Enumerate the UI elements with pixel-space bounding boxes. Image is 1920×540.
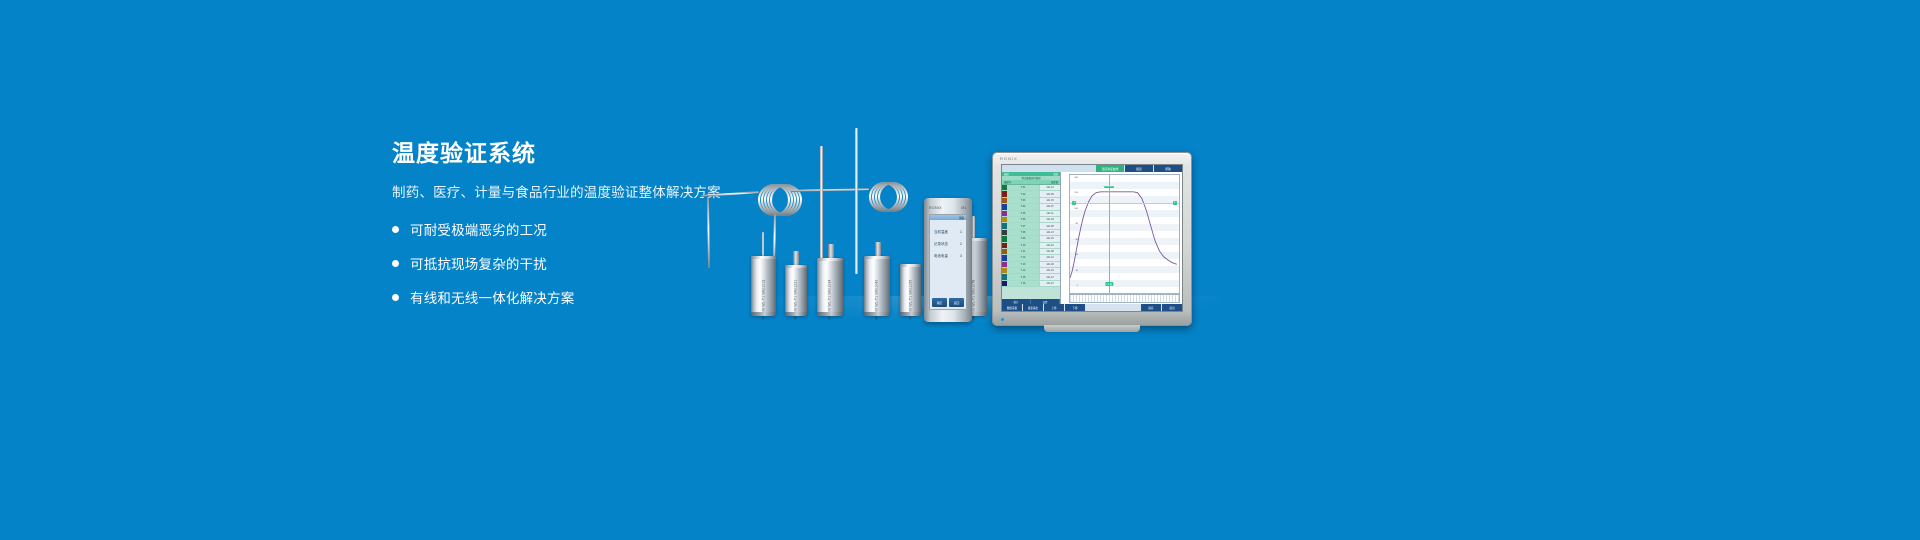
chart-setpoint-line — [1070, 203, 1179, 204]
chart-plot-area[interactable]: 140120100806040200 121.0°C F0 值 A B — [1069, 174, 1180, 294]
bullet-dot-icon — [392, 260, 399, 267]
chart-marker-a[interactable]: A — [1072, 201, 1076, 205]
needle-probe-tallest — [855, 128, 858, 274]
feature-label: 可抵抗现场复杂的干扰 — [410, 253, 547, 273]
channel-name-cell: T 04 — [1007, 204, 1039, 209]
channel-value-cell: 121.11 — [1039, 211, 1060, 216]
logger-label-5: RONIX WL-T1 SN01055 — [908, 280, 913, 320]
logger-stem — [762, 232, 764, 256]
channel-name-cell: T 10 — [1007, 243, 1039, 248]
channel-name-cell: T 08 — [1007, 230, 1039, 235]
channel-name-cell: T 07 — [1007, 223, 1039, 228]
channel-value-cell: 121.07 — [1039, 204, 1060, 209]
bullet-dot-icon — [392, 226, 399, 233]
monitor-display: RONIX 温度验证曲线 报表 帮助 通道 温度 — [992, 152, 1192, 326]
tab-help[interactable]: 帮助 — [1154, 165, 1182, 172]
channel-value-cell: 121.16 — [1039, 236, 1060, 241]
channel-value-cell: 121.13 — [1039, 230, 1060, 235]
channel-value-cell: 121.06 — [1039, 262, 1060, 267]
monitor-brand: RONIX — [1000, 156, 1018, 161]
channel-value-cell: 121.07 — [1039, 281, 1060, 286]
channel-name-cell: T 05 — [1007, 211, 1039, 216]
logger-stem — [972, 216, 975, 238]
exit-button[interactable]: 退出 — [1162, 304, 1182, 311]
channel-name-cell: T 01 — [1007, 185, 1039, 190]
logger-label-4: RONIX WL-T1 SN01042 — [875, 280, 880, 320]
channel-value-cell: 121.08 — [1039, 249, 1060, 254]
tab-report[interactable]: 报表 — [1125, 165, 1153, 172]
readout-value: 3 — [960, 254, 962, 258]
monitor-screen: 温度验证曲线 报表 帮助 通道 温度 测点数据实时监视 通道号 — [1001, 164, 1183, 312]
software-bottom-toolbar: 数据采集 报表输出 上移 下移 保存 退出 — [1002, 304, 1182, 311]
save-button[interactable]: 保存 — [1141, 304, 1161, 311]
handheld-brand-row: RONIX M1 — [924, 206, 972, 210]
channel-name-cell: T 12 — [1007, 255, 1039, 260]
feature-label: 有线和无线一体化解决方案 — [410, 287, 574, 307]
chart-horizontal-scrollbar[interactable] — [1069, 294, 1180, 303]
channel-value-cell: 121.18 — [1039, 217, 1060, 222]
channel-value-cell: 121.14 — [1039, 255, 1060, 260]
data-logger-2: RONIX WL-T1 SN01021 — [785, 265, 807, 316]
channel-name-cell: T 02 — [1007, 191, 1039, 196]
readout-label: 电池电量 — [934, 253, 948, 258]
chart-cursor-bottom-label: F0 值 — [1106, 282, 1113, 286]
chart-marker-b[interactable]: B — [1173, 201, 1177, 205]
readout-value: 2 — [960, 242, 962, 246]
channel-value-cell: 121.10 — [1039, 243, 1060, 248]
handheld-button-bar: 确定 返回 — [930, 298, 966, 309]
channel-name-cell: T 16 — [1007, 281, 1039, 286]
channel-value-cell: 121.09 — [1039, 191, 1060, 196]
channel-name-cell: T 15 — [1007, 274, 1039, 279]
channel-value-cell: 121.15 — [1039, 198, 1060, 203]
logger-cap — [828, 244, 834, 258]
move-up-button[interactable]: 上移 — [1044, 304, 1064, 311]
feature-label: 可耐受极端恶劣的工况 — [410, 219, 547, 239]
channel-name-cell: T 09 — [1007, 236, 1039, 241]
table-row[interactable]: T 16121.07 — [1002, 281, 1060, 287]
chart-cursor-top-label: 121.0°C — [1104, 186, 1114, 188]
chart-cursor-line[interactable] — [1109, 175, 1110, 293]
column-header-value: 温度值 — [1051, 180, 1058, 184]
collect-data-button[interactable]: 数据采集 — [1002, 304, 1022, 311]
channel-name-cell: T 13 — [1007, 262, 1039, 267]
grid-row-list[interactable]: T 01121.12T 02121.09T 03121.15T 04121.07… — [1002, 185, 1060, 299]
product-photo-group: RONIX WL-T1 SN01013 RONIX WL-T1 SN01021 … — [700, 120, 1260, 340]
handheld-reader[interactable]: RONIX M1 读取 当前温度 1 记录状态 2 电池电量 3 — [924, 198, 972, 322]
bullet-dot-icon — [392, 294, 399, 301]
tab-strip-spacer — [1002, 165, 1095, 172]
handheld-screen: 读取 当前温度 1 记录状态 2 电池电量 3 确 — [929, 214, 967, 310]
channel-data-grid: 通道 温度 测点数据实时监视 通道号 温度值 T 01121.12T 02121… — [1002, 172, 1061, 304]
software-body: 通道 温度 测点数据实时监视 通道号 温度值 T 01121.12T 02121… — [1002, 172, 1182, 304]
logger-cap — [875, 242, 881, 256]
needle-probe-tall — [820, 146, 823, 272]
channel-name-cell: T 14 — [1007, 268, 1039, 273]
readout-label: 当前温度 — [934, 229, 948, 234]
data-logger-4: RONIX WL-T1 SN01042 — [864, 256, 890, 316]
channel-value-cell: 121.05 — [1039, 223, 1060, 228]
channel-name-cell: T 06 — [1007, 217, 1039, 222]
power-led-icon — [1001, 318, 1004, 321]
readout-label: 记录状态 — [934, 241, 948, 246]
handheld-brand: RONIX — [929, 206, 942, 210]
data-logger-5: RONIX WL-T1 SN01055 — [900, 264, 921, 316]
channel-value-cell: 121.19 — [1039, 268, 1060, 273]
list-item: 记录状态 2 — [934, 241, 962, 246]
channel-name-cell: T 03 — [1007, 198, 1039, 203]
export-report-button[interactable]: 报表输出 — [1023, 304, 1043, 311]
channel-value-cell: 121.12 — [1039, 185, 1060, 190]
list-item: 电池电量 3 — [934, 253, 962, 258]
chart-series-line — [1070, 175, 1179, 293]
monitor-stand — [1044, 325, 1140, 332]
logger-label-3: RONIX WL-T1 SN01034 — [828, 280, 833, 320]
channel-value-cell: 121.12 — [1039, 274, 1060, 279]
hero-banner: 温度验证系统 制药、医疗、计量与食品行业的温度验证整体解决方案 可耐受极端恶劣的… — [0, 0, 1920, 540]
data-logger-1: RONIX WL-T1 SN01013 — [751, 256, 776, 316]
data-logger-3: RONIX WL-T1 SN01034 — [817, 258, 843, 316]
logger-label-2: RONIX WL-T1 SN01021 — [794, 280, 799, 320]
toolbar-spacer — [1086, 304, 1140, 311]
software-tab-strip: 温度验证曲线 报表 帮助 — [1002, 165, 1182, 172]
handheld-model: M1 — [961, 206, 967, 210]
list-item: 当前温度 1 — [934, 229, 962, 234]
column-header-channel: 通道号 — [1004, 180, 1011, 184]
move-down-button[interactable]: 下移 — [1065, 304, 1085, 311]
logger-cap — [793, 251, 799, 265]
readout-value: 1 — [960, 230, 962, 234]
handheld-confirm-button[interactable]: 确定 — [932, 298, 947, 307]
tab-temperature-curve[interactable]: 温度验证曲线 — [1096, 165, 1124, 172]
channel-name-cell: T 11 — [1007, 249, 1039, 254]
handheld-back-button[interactable]: 返回 — [949, 298, 964, 307]
handheld-readout-list: 当前温度 1 记录状态 2 电池电量 3 — [930, 220, 966, 258]
temperature-chart-pane: 140120100806040200 121.0°C F0 值 A B — [1061, 172, 1182, 304]
logger-label-1: RONIX WL-T1 SN01013 — [761, 280, 766, 320]
